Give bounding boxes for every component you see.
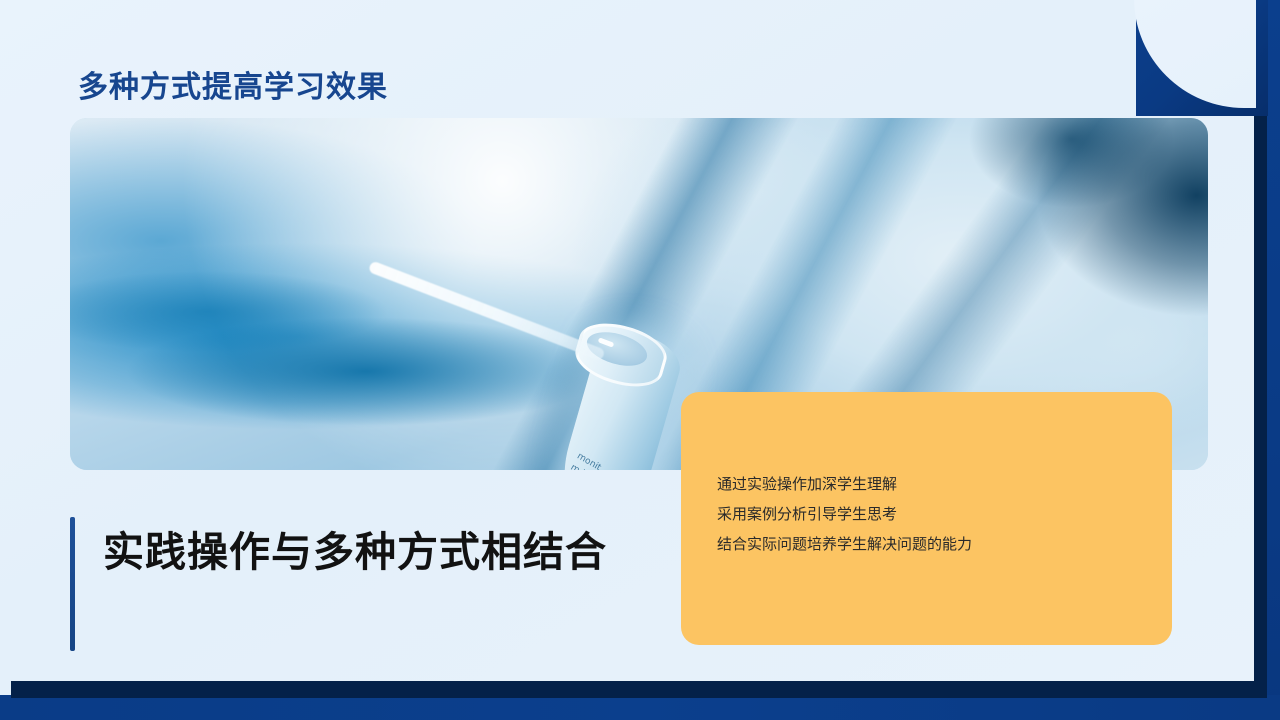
list-item: 通过实验操作加深学生理解 [717,470,1154,500]
right-edge-bright-bar [1266,0,1280,720]
slide: 多种方式提高学习效果 monit m ligh 450 通过实验操作加深学生理解… [0,0,1280,720]
heading-accent-bar [70,517,75,651]
bottom-bright-bar [0,695,1280,720]
page-title: 多种方式提高学习效果 [78,62,388,106]
list-item: 结合实际问题培养学生解决问题的能力 [717,530,1154,560]
bullet-points-card: 通过实验操作加深学生理解 采用案例分析引导学生思考 结合实际问题培养学生解决问题… [681,392,1172,645]
list-item: 采用案例分析引导学生思考 [717,500,1154,530]
slide-heading: 实践操作与多种方式相结合 [103,522,623,582]
bullet-list: 通过实验操作加深学生理解 采用案例分析引导学生思考 结合实际问题培养学生解决问题… [717,470,1154,560]
bottom-dark-bar [11,681,1267,698]
